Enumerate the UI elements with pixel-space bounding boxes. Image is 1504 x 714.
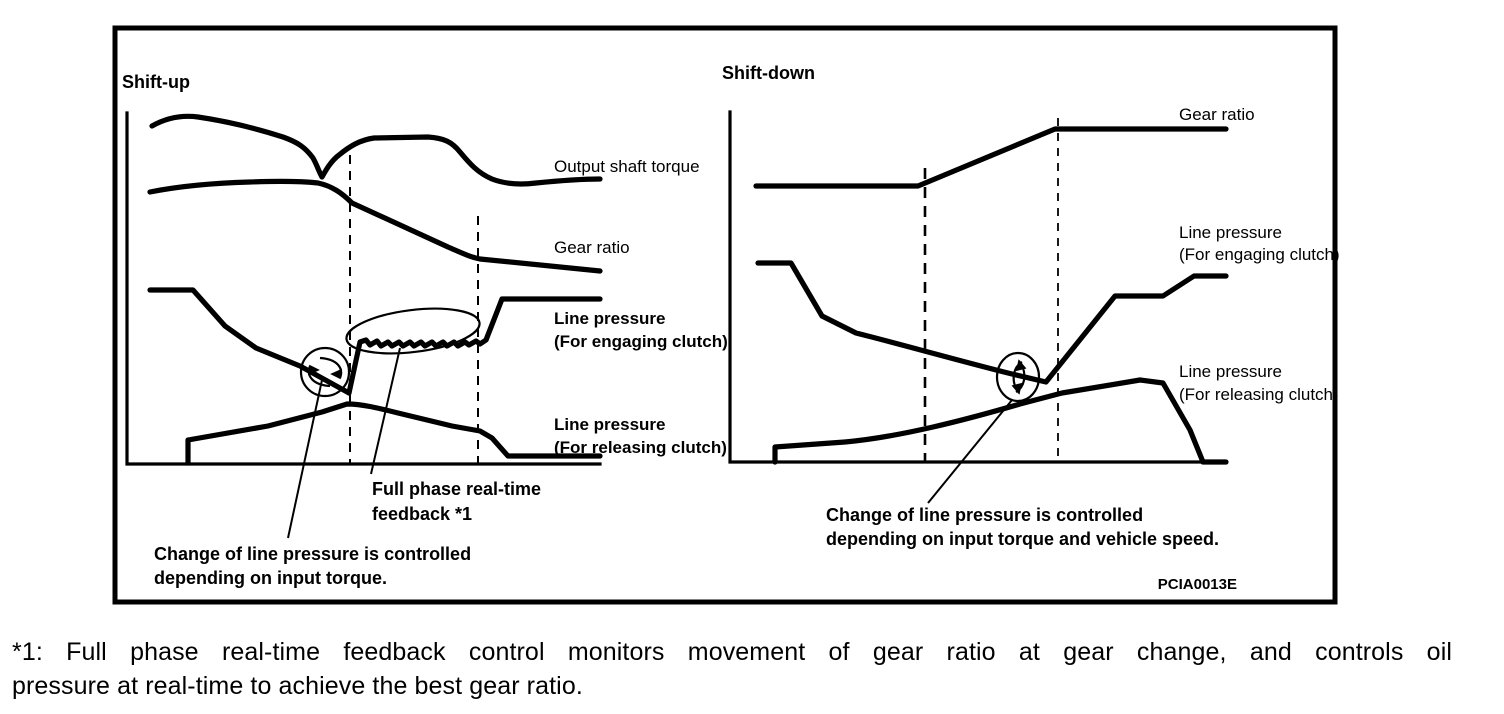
label-output-shaft-torque: Output shaft torque [554, 157, 700, 176]
annotation-feedback-line2: feedback *1 [372, 504, 472, 524]
annotation-line-pressure-change-down-line2: depending on input torque and vehicle sp… [826, 529, 1219, 549]
left-chart-axes [127, 113, 600, 464]
arrow-head-down-down [1013, 384, 1021, 393]
label-gear-ratio: Gear ratio [554, 238, 630, 257]
curve-gear-ratio-down [756, 129, 1226, 186]
label-gear-ratio-down: Gear ratio [1179, 105, 1255, 124]
label-line-pressure-releasing-sub: (For releasing clutch) [554, 438, 727, 457]
caption-line-2: pressure at real-time to achieve the bes… [12, 670, 1452, 704]
label-line-pressure-releasing-sub-down: (For releasing clutch) [1179, 385, 1339, 404]
annotation-line-pressure-change-line1: Change of line pressure is controlled [154, 544, 471, 564]
diagram-svg: Shift-up [0, 0, 1504, 714]
figure-caption: *1: Full phase real-time feedback contro… [12, 636, 1452, 703]
label-line-pressure-engaging-title-down: Line pressure [1179, 223, 1282, 242]
label-line-pressure-engaging-sub-down: (For engaging clutch) [1179, 245, 1340, 264]
label-line-pressure-engaging-sub: (For engaging clutch) [554, 332, 728, 351]
annotation-line-pressure-change-down-line1: Change of line pressure is controlled [826, 505, 1143, 525]
curve-line-pressure-releasing [188, 404, 600, 463]
panel-title-shift-down: Shift-down [722, 63, 815, 83]
panel-shift-up: Shift-up [122, 72, 728, 588]
label-line-pressure-releasing-title-down: Line pressure [1179, 362, 1282, 381]
reference-code: PCIA0013E [1158, 576, 1237, 593]
annotation-line-pressure-change-line2: depending on input torque. [154, 568, 387, 588]
curve-line-pressure-engaging-down [758, 263, 1226, 382]
caption-line-1: *1: Full phase real-time feedback contro… [12, 636, 1452, 670]
label-line-pressure-releasing-title: Line pressure [554, 415, 666, 434]
line-pressure-change-leader [288, 380, 322, 538]
feedback-ellipse [344, 302, 482, 360]
feedback-ellipse-callout [344, 302, 482, 474]
label-line-pressure-engaging-title: Line pressure [554, 309, 666, 328]
figure-border [115, 28, 1335, 602]
arrow-head-lower [332, 370, 341, 378]
annotation-feedback-line1: Full phase real-time [372, 479, 541, 499]
curve-gear-ratio [150, 181, 600, 271]
figure-root: Shift-up [0, 0, 1504, 714]
panel-shift-down: Shift-down Gear ratio [722, 63, 1340, 549]
curve-line-pressure-engaging [150, 290, 349, 393]
curve-output-shaft-torque [152, 116, 600, 184]
panel-title-shift-up: Shift-up [122, 72, 190, 92]
